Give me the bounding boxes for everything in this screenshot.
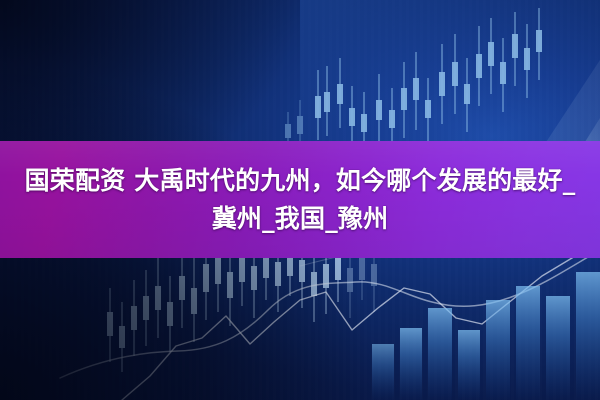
headline-line-2: 冀州_我国_豫州 [212,201,389,237]
promo-banner: 国荣配资 大禹时代的九州，如今哪个发展的最好_ 冀州_我国_豫州 [0,0,600,400]
headline: 国荣配资 大禹时代的九州，如今哪个发展的最好_ 冀州_我国_豫州 [0,141,600,258]
lower-candlestick-chart [107,258,377,372]
headline-line-1: 国荣配资 大禹时代的九州，如今哪个发展的最好_ [25,163,576,199]
